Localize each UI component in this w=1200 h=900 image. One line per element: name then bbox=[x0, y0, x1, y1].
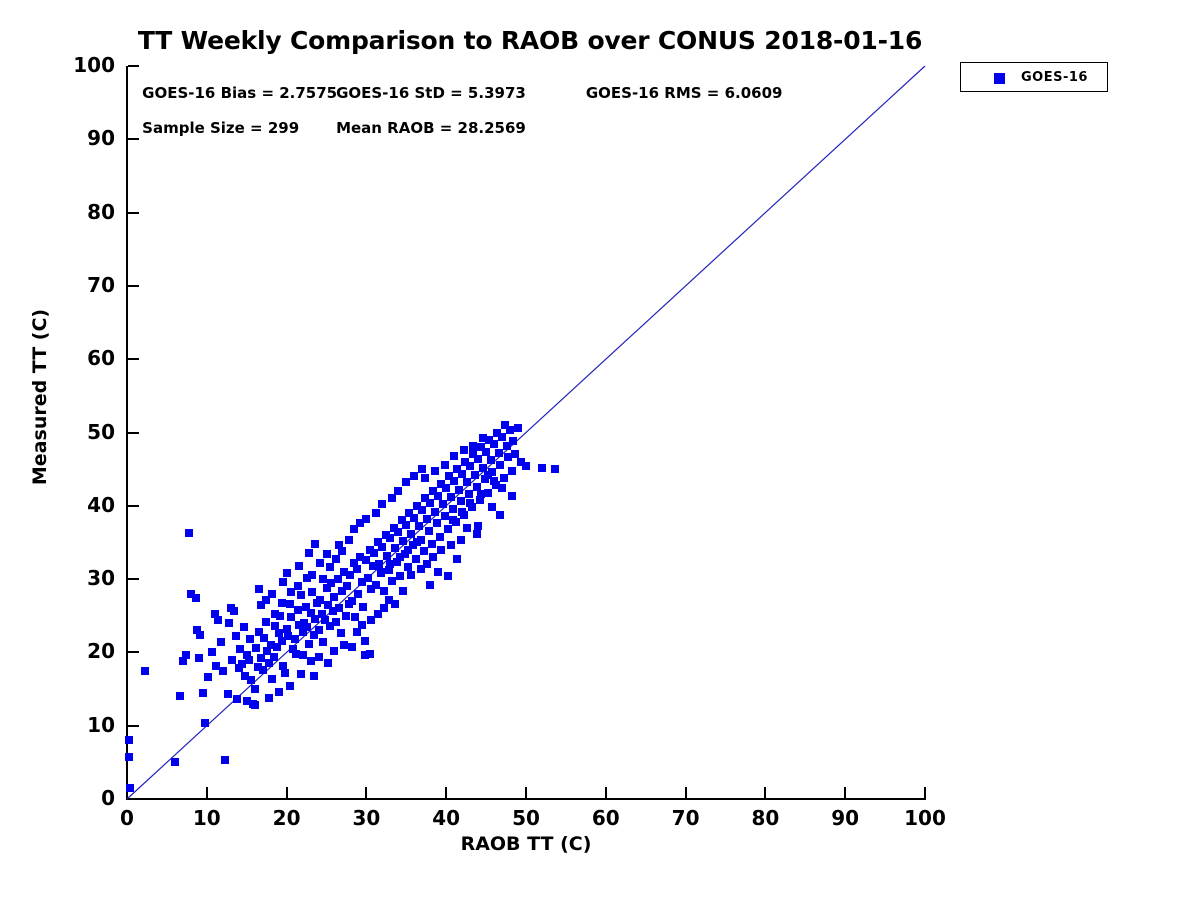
data-point bbox=[410, 514, 418, 522]
data-point bbox=[388, 494, 396, 502]
y-tick-label-70: 70 bbox=[53, 273, 115, 297]
data-point bbox=[310, 672, 318, 680]
data-point bbox=[469, 442, 477, 450]
data-point bbox=[275, 688, 283, 696]
data-point bbox=[449, 505, 457, 513]
x-tick-label-10: 10 bbox=[172, 806, 242, 830]
data-point bbox=[386, 560, 394, 568]
data-point bbox=[297, 670, 305, 678]
data-point bbox=[257, 601, 265, 609]
data-point bbox=[436, 533, 444, 541]
data-point bbox=[399, 537, 407, 545]
data-point bbox=[466, 462, 474, 470]
data-point bbox=[323, 550, 331, 558]
data-point bbox=[332, 618, 340, 626]
x-axis-label: RAOB TT (C) bbox=[127, 833, 925, 855]
data-point bbox=[354, 590, 362, 598]
data-point bbox=[303, 574, 311, 582]
data-point bbox=[423, 560, 431, 568]
data-point bbox=[125, 736, 133, 744]
y-tick-label-40: 40 bbox=[53, 493, 115, 517]
data-point bbox=[195, 654, 203, 662]
data-point bbox=[402, 478, 410, 486]
x-tick-label-100: 100 bbox=[890, 806, 960, 830]
data-point bbox=[426, 499, 434, 507]
y-tick-label-10: 10 bbox=[53, 713, 115, 737]
data-point bbox=[345, 536, 353, 544]
data-point bbox=[221, 756, 229, 764]
data-point bbox=[176, 692, 184, 700]
data-point bbox=[308, 588, 316, 596]
data-point bbox=[126, 784, 134, 792]
data-point bbox=[402, 521, 410, 529]
data-point bbox=[251, 701, 259, 709]
data-point bbox=[297, 591, 305, 599]
data-point bbox=[551, 465, 559, 473]
data-point bbox=[364, 574, 372, 582]
data-point bbox=[348, 597, 356, 605]
data-point bbox=[330, 647, 338, 655]
data-point bbox=[307, 657, 315, 665]
y-axis-label: Measured TT (C) bbox=[29, 257, 51, 537]
data-point bbox=[283, 569, 291, 577]
data-point bbox=[278, 599, 286, 607]
legend-swatch-goes16 bbox=[994, 73, 1005, 84]
data-point bbox=[217, 638, 225, 646]
y-tick-label-60: 60 bbox=[53, 346, 115, 370]
data-point bbox=[299, 651, 307, 659]
data-point bbox=[185, 529, 193, 537]
data-point bbox=[394, 487, 402, 495]
data-point bbox=[410, 472, 418, 480]
data-point bbox=[442, 484, 450, 492]
data-point bbox=[255, 585, 263, 593]
data-point bbox=[334, 575, 342, 583]
plot-area bbox=[127, 66, 925, 799]
data-point bbox=[236, 645, 244, 653]
data-point bbox=[340, 641, 348, 649]
y-tick-label-50: 50 bbox=[53, 420, 115, 444]
data-point bbox=[465, 490, 473, 498]
data-point bbox=[418, 506, 426, 514]
data-point bbox=[214, 616, 222, 624]
x-tick-label-60: 60 bbox=[571, 806, 641, 830]
data-point bbox=[243, 697, 251, 705]
data-point bbox=[182, 651, 190, 659]
x-tick-label-20: 20 bbox=[252, 806, 322, 830]
data-point bbox=[490, 440, 498, 448]
data-point bbox=[437, 546, 445, 554]
data-point bbox=[460, 446, 468, 454]
data-point bbox=[251, 685, 259, 693]
y-tick-label-90: 90 bbox=[53, 126, 115, 150]
data-point bbox=[514, 424, 522, 432]
data-point bbox=[125, 753, 133, 761]
data-point bbox=[450, 452, 458, 460]
data-point bbox=[330, 593, 338, 601]
data-point bbox=[449, 516, 457, 524]
x-tick-label-80: 80 bbox=[730, 806, 800, 830]
data-point bbox=[413, 538, 421, 546]
legend-label-goes16: GOES-16 bbox=[1021, 70, 1101, 85]
data-point bbox=[208, 648, 216, 656]
data-point bbox=[353, 628, 361, 636]
y-tick-label-30: 30 bbox=[53, 566, 115, 590]
data-point bbox=[305, 640, 313, 648]
y-tick-label-20: 20 bbox=[53, 639, 115, 663]
data-point bbox=[498, 433, 506, 441]
data-point bbox=[428, 540, 436, 548]
data-point bbox=[490, 477, 498, 485]
data-point bbox=[420, 547, 428, 555]
data-point bbox=[391, 544, 399, 552]
data-point bbox=[474, 455, 482, 463]
data-point bbox=[423, 515, 431, 523]
data-point bbox=[319, 575, 327, 583]
data-point bbox=[252, 644, 260, 652]
data-point bbox=[228, 656, 236, 664]
data-point bbox=[353, 565, 361, 573]
data-point bbox=[324, 659, 332, 667]
data-point bbox=[204, 673, 212, 681]
data-point bbox=[508, 467, 516, 475]
data-point bbox=[305, 549, 313, 557]
data-point bbox=[316, 559, 324, 567]
data-point bbox=[407, 571, 415, 579]
data-point bbox=[477, 490, 485, 498]
data-point bbox=[447, 541, 455, 549]
data-point bbox=[247, 676, 255, 684]
data-point bbox=[457, 536, 465, 544]
data-point bbox=[255, 628, 263, 636]
data-point bbox=[458, 508, 466, 516]
data-point bbox=[407, 530, 415, 538]
data-point bbox=[444, 525, 452, 533]
data-point bbox=[391, 600, 399, 608]
data-point bbox=[444, 572, 452, 580]
data-point bbox=[370, 549, 378, 557]
data-point bbox=[509, 437, 517, 445]
data-point bbox=[240, 623, 248, 631]
data-point bbox=[372, 581, 380, 589]
data-point bbox=[232, 632, 240, 640]
data-point bbox=[471, 471, 479, 479]
data-point bbox=[458, 470, 466, 478]
data-point bbox=[196, 631, 204, 639]
data-point bbox=[265, 694, 273, 702]
data-point bbox=[426, 581, 434, 589]
data-point bbox=[433, 519, 441, 527]
data-point bbox=[495, 449, 503, 457]
data-point bbox=[199, 689, 207, 697]
data-point bbox=[171, 758, 179, 766]
y-tick-label-100: 100 bbox=[53, 53, 115, 77]
data-point bbox=[294, 582, 302, 590]
data-point bbox=[404, 546, 412, 554]
data-point bbox=[380, 604, 388, 612]
data-point bbox=[439, 500, 447, 508]
data-point bbox=[378, 543, 386, 551]
data-point bbox=[434, 492, 442, 500]
data-point bbox=[315, 653, 323, 661]
data-point bbox=[224, 690, 232, 698]
data-point bbox=[473, 530, 481, 538]
data-point bbox=[348, 643, 356, 651]
data-point bbox=[316, 596, 324, 604]
data-point bbox=[463, 478, 471, 486]
data-point bbox=[425, 527, 433, 535]
data-point bbox=[359, 603, 367, 611]
data-point bbox=[230, 607, 238, 615]
data-point bbox=[233, 695, 241, 703]
data-point bbox=[372, 509, 380, 517]
data-point bbox=[453, 555, 461, 563]
data-point bbox=[361, 637, 369, 645]
data-point bbox=[286, 682, 294, 690]
data-point bbox=[268, 675, 276, 683]
data-point bbox=[332, 555, 340, 563]
data-point bbox=[281, 669, 289, 677]
data-point bbox=[295, 562, 303, 570]
data-point bbox=[396, 553, 404, 561]
data-point bbox=[378, 500, 386, 508]
data-point bbox=[192, 594, 200, 602]
data-point bbox=[337, 629, 345, 637]
data-point bbox=[286, 600, 294, 608]
data-point bbox=[343, 582, 351, 590]
data-point bbox=[388, 577, 396, 585]
data-point bbox=[225, 619, 233, 627]
data-point bbox=[421, 474, 429, 482]
data-point bbox=[386, 534, 394, 542]
data-point bbox=[482, 448, 490, 456]
page-title: TT Weekly Comparison to RAOB over CONUS … bbox=[0, 26, 1060, 55]
data-point bbox=[538, 464, 546, 472]
data-point bbox=[380, 587, 388, 595]
data-point bbox=[399, 587, 407, 595]
data-point bbox=[259, 666, 267, 674]
data-point bbox=[383, 552, 391, 560]
data-point bbox=[262, 618, 270, 626]
data-point bbox=[294, 606, 302, 614]
x-tick-label-0: 0 bbox=[92, 806, 162, 830]
data-point bbox=[377, 568, 385, 576]
data-point bbox=[431, 467, 439, 475]
data-point bbox=[394, 528, 402, 536]
data-point bbox=[506, 426, 514, 434]
x-tick-label-50: 50 bbox=[491, 806, 561, 830]
scatter-plot-figure: TT Weekly Comparison to RAOB over CONUS … bbox=[0, 0, 1200, 900]
data-point bbox=[431, 508, 439, 516]
data-point bbox=[418, 465, 426, 473]
data-point bbox=[271, 610, 279, 618]
legend[interactable]: GOES-16 bbox=[960, 62, 1108, 92]
data-point bbox=[450, 477, 458, 485]
data-point bbox=[396, 572, 404, 580]
data-point bbox=[496, 511, 504, 519]
data-point bbox=[496, 461, 504, 469]
y-tick-label-80: 80 bbox=[53, 200, 115, 224]
data-point bbox=[412, 555, 420, 563]
data-point bbox=[326, 563, 334, 571]
data-point bbox=[342, 612, 350, 620]
data-point bbox=[335, 541, 343, 549]
data-point bbox=[362, 515, 370, 523]
data-point bbox=[466, 499, 474, 507]
data-point bbox=[315, 626, 323, 634]
data-point bbox=[246, 635, 254, 643]
data-point bbox=[245, 656, 253, 664]
data-point bbox=[441, 512, 449, 520]
data-point bbox=[434, 568, 442, 576]
data-point bbox=[522, 462, 530, 470]
data-point bbox=[457, 497, 465, 505]
data-point bbox=[201, 719, 209, 727]
data-point bbox=[508, 492, 516, 500]
data-point bbox=[415, 522, 423, 530]
data-point bbox=[474, 522, 482, 530]
data-point bbox=[319, 638, 327, 646]
one-to-one-reference-line bbox=[127, 66, 925, 799]
data-point bbox=[287, 613, 295, 621]
data-point bbox=[441, 461, 449, 469]
data-point bbox=[311, 540, 319, 548]
data-point bbox=[500, 474, 508, 482]
x-tick-label-90: 90 bbox=[810, 806, 880, 830]
data-point bbox=[212, 662, 220, 670]
data-point bbox=[479, 434, 487, 442]
data-point bbox=[270, 653, 278, 661]
data-point bbox=[455, 486, 463, 494]
data-point bbox=[488, 503, 496, 511]
data-point bbox=[279, 578, 287, 586]
x-tick-label-40: 40 bbox=[411, 806, 481, 830]
data-point bbox=[487, 456, 495, 464]
data-point bbox=[141, 667, 149, 675]
x-tick-label-70: 70 bbox=[651, 806, 721, 830]
data-point bbox=[447, 493, 455, 501]
data-point bbox=[366, 650, 374, 658]
data-point bbox=[291, 635, 299, 643]
data-point bbox=[463, 524, 471, 532]
data-point bbox=[498, 484, 506, 492]
data-point bbox=[257, 654, 265, 662]
x-tick-label-30: 30 bbox=[331, 806, 401, 830]
